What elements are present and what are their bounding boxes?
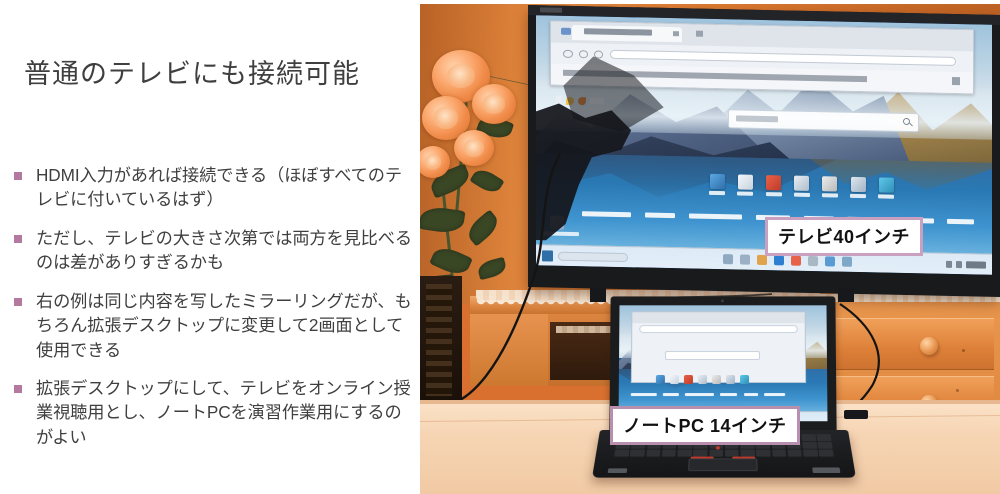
shortcut-label bbox=[709, 191, 725, 195]
laptop-shortcut-row[interactable] bbox=[656, 375, 781, 384]
desktop-search-input[interactable] bbox=[728, 109, 920, 132]
app-icon bbox=[766, 175, 781, 190]
leaf bbox=[464, 209, 503, 246]
rose-flower bbox=[472, 84, 516, 124]
laptop-news-row[interactable] bbox=[631, 393, 790, 396]
drawer bbox=[836, 318, 994, 370]
taskbar-icon-group[interactable] bbox=[723, 254, 852, 267]
left-dark-grill bbox=[426, 284, 452, 396]
news-link[interactable] bbox=[631, 393, 656, 396]
square-bullet-icon bbox=[14, 385, 22, 393]
news-link[interactable] bbox=[685, 393, 714, 396]
rose-plant bbox=[420, 22, 542, 304]
app-icon[interactable] bbox=[684, 375, 693, 384]
desktop-shortcut[interactable] bbox=[737, 174, 753, 195]
tv-brand-logo bbox=[540, 7, 562, 12]
news-link[interactable] bbox=[744, 393, 758, 396]
app-icon bbox=[794, 176, 809, 191]
shortcut-label bbox=[737, 191, 753, 195]
taskbar-app-icon[interactable] bbox=[757, 255, 767, 265]
laptop-address-bar[interactable] bbox=[640, 325, 798, 333]
tv-console-left-panel bbox=[470, 314, 548, 386]
desktop-shortcut[interactable] bbox=[766, 175, 782, 196]
hdmi-connector bbox=[844, 410, 868, 419]
search-placeholder-text bbox=[736, 116, 778, 122]
news-link[interactable] bbox=[645, 213, 676, 219]
app-icon[interactable] bbox=[698, 375, 707, 384]
app-icon bbox=[822, 176, 837, 191]
list-item: 右の例は同じ内容を写したミラーリングだが、もちろん拡張デスクトップに変更して2画… bbox=[10, 289, 420, 362]
list-item: ただし、テレビの大きさ次第では両方を見比べるのは差がありすぎるかも bbox=[10, 226, 420, 275]
desktop-shortcut[interactable] bbox=[794, 176, 810, 197]
bullet-text: HDMI入力があれば接続できる（ほぼすべてのテレビに付いているはず） bbox=[36, 163, 414, 212]
star-icon[interactable] bbox=[952, 77, 960, 85]
lenovo-logo bbox=[812, 467, 840, 473]
bullet-text: ただし、テレビの大きさ次第では両方を見比べるのは差がありすぎるかも bbox=[36, 226, 414, 275]
new-tab-icon[interactable] bbox=[696, 31, 703, 37]
tv-leg bbox=[590, 288, 606, 302]
shortcut-label bbox=[766, 192, 782, 196]
app-icon[interactable] bbox=[740, 375, 749, 384]
leaf bbox=[470, 165, 505, 196]
leaf bbox=[476, 257, 507, 280]
slide-root: 普通のテレビにも接続可能 HDMI入力があれば接続できる（ほぼすべてのテレビに付… bbox=[0, 0, 1000, 494]
laptop-desktop-search-input[interactable] bbox=[665, 351, 761, 359]
app-icon[interactable] bbox=[670, 375, 679, 384]
tray-icon[interactable] bbox=[946, 260, 952, 267]
desktop-shortcut[interactable] bbox=[709, 174, 725, 195]
close-icon[interactable] bbox=[673, 31, 679, 36]
taskbar-app-icon[interactable] bbox=[723, 254, 733, 264]
laptop-browser-window[interactable] bbox=[631, 311, 806, 383]
app-icon[interactable] bbox=[712, 375, 721, 384]
touchpad[interactable] bbox=[688, 458, 758, 471]
app-icon bbox=[738, 174, 753, 189]
leaf bbox=[420, 205, 465, 235]
taskbar-app-icon[interactable] bbox=[825, 256, 835, 266]
room-photo: テレビ40インチ ノートPC 14インチ bbox=[420, 4, 1000, 494]
address-bar[interactable] bbox=[610, 50, 956, 66]
webcam-icon bbox=[721, 299, 724, 302]
news-link[interactable] bbox=[663, 393, 679, 396]
thinkpad-logo bbox=[608, 468, 628, 473]
search-icon bbox=[903, 118, 910, 125]
shortcut-label bbox=[850, 194, 866, 198]
taskbar-app-icon[interactable] bbox=[791, 256, 801, 266]
system-tray[interactable] bbox=[946, 260, 986, 268]
bullet-text: 右の例は同じ内容を写したミラーリングだが、もちろん拡張デスクトップに変更して2画… bbox=[36, 289, 414, 362]
shortcut-label bbox=[794, 193, 810, 197]
list-item: HDMI入力があれば接続できる（ほぼすべてのテレビに付いているはず） bbox=[10, 163, 420, 212]
tv-leg bbox=[838, 288, 854, 302]
desktop-shortcut[interactable] bbox=[850, 177, 866, 198]
app-icon bbox=[879, 177, 894, 192]
start-button-icon[interactable] bbox=[542, 250, 553, 261]
square-bullet-icon bbox=[14, 298, 22, 306]
laptop-browser-tab-bar[interactable] bbox=[633, 312, 805, 323]
weather-box-icon bbox=[556, 96, 562, 105]
television bbox=[528, 5, 1000, 297]
app-icon bbox=[851, 177, 866, 192]
bullet-list: HDMI入力があれば接続できる（ほぼすべてのテレビに付いているはず） ただし、テ… bbox=[10, 163, 420, 463]
laptop-screen bbox=[619, 305, 828, 421]
taskbar-app-icon[interactable] bbox=[774, 255, 784, 265]
laptop-size-callout: ノートPC 14インチ bbox=[610, 406, 800, 445]
square-bullet-icon bbox=[14, 172, 22, 180]
taskbar-clock[interactable] bbox=[966, 261, 986, 268]
reload-icon[interactable] bbox=[594, 50, 603, 58]
shortcut-label bbox=[822, 193, 838, 197]
forward-icon[interactable] bbox=[579, 50, 588, 58]
tray-icon[interactable] bbox=[956, 261, 962, 268]
bullet-text: 拡張デスクトップにして、テレビをオンライン授業視聴用とし、ノートPCを演習作業用… bbox=[36, 376, 414, 449]
shortcut-label bbox=[878, 194, 894, 198]
list-item: 拡張デスクトップにして、テレビをオンライン授業視聴用とし、ノートPCを演習作業用… bbox=[10, 376, 420, 449]
tv-size-callout: テレビ40インチ bbox=[765, 217, 923, 256]
drawer-knob-icon bbox=[920, 337, 938, 355]
back-icon[interactable] bbox=[563, 49, 572, 57]
page-title: 普通のテレビにも接続可能 bbox=[24, 52, 360, 91]
news-link[interactable] bbox=[764, 393, 785, 396]
trackpoint-icon[interactable] bbox=[716, 446, 720, 449]
square-bullet-icon bbox=[14, 235, 22, 243]
tv-screen bbox=[536, 15, 992, 275]
desktop-shortcut[interactable] bbox=[878, 177, 894, 198]
taskbar-search-input[interactable] bbox=[558, 251, 628, 261]
taskbar-app-icon[interactable] bbox=[842, 257, 852, 267]
taskbar-app-icon[interactable] bbox=[740, 254, 750, 264]
text-column: 普通のテレビにも接続可能 HDMI入力があれば接続できる（ほぼすべてのテレビに付… bbox=[0, 0, 420, 494]
app-icon[interactable] bbox=[656, 375, 665, 384]
news-link[interactable] bbox=[582, 211, 632, 217]
rose-flower bbox=[454, 130, 494, 166]
tab-favicon-icon bbox=[561, 27, 571, 34]
app-icon[interactable] bbox=[726, 375, 735, 384]
desktop-shortcut[interactable] bbox=[822, 176, 838, 197]
taskbar-app-icon[interactable] bbox=[808, 256, 818, 266]
news-link[interactable] bbox=[720, 393, 737, 396]
app-icon bbox=[710, 174, 725, 189]
news-link[interactable] bbox=[947, 219, 974, 225]
